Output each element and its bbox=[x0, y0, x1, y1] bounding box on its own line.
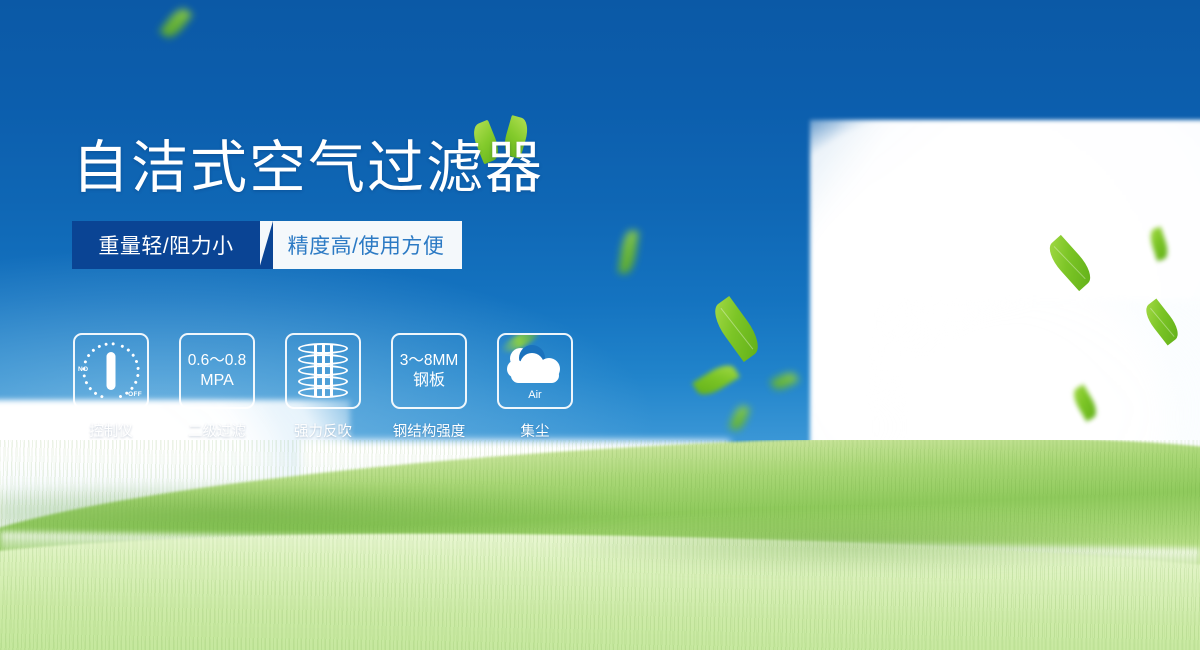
feature-list: NO OFF 控制仪 0.6～0.8 MPA 二级过滤 bbox=[72, 333, 574, 441]
pressure-text-icon: 0.6～0.8 MPA bbox=[188, 351, 247, 391]
air-label: Air bbox=[505, 389, 565, 401]
gauge-label-off: OFF bbox=[128, 391, 142, 398]
steel-plate-text-icon: 3～8MM 钢板 bbox=[400, 351, 459, 391]
product-hero-banner: 自洁式空气过滤器 重量轻/阻力小 精度高/使用方便 bbox=[0, 0, 1200, 650]
tagline-right-text: 精度高/使用方便 bbox=[278, 230, 445, 260]
grass-field bbox=[0, 440, 1200, 650]
gauge-label-no: NO bbox=[78, 366, 88, 373]
tagline-left-block: 重量轻/阻力小 bbox=[72, 221, 260, 269]
feature-caption: 二级过滤 bbox=[188, 420, 246, 441]
steel-thickness: 3～8MM bbox=[400, 351, 459, 371]
pressure-unit: MPA bbox=[188, 371, 247, 391]
feature-caption: 集尘 bbox=[521, 420, 550, 441]
gauge-needle bbox=[107, 352, 116, 390]
grass-texture bbox=[0, 440, 1200, 650]
cloud-air-icon: Air bbox=[505, 342, 565, 400]
feature-icon-box: NO OFF bbox=[73, 333, 149, 409]
feature-item-dust[interactable]: Air 集尘 bbox=[496, 333, 574, 441]
hero-content: 自洁式空气过滤器 重量轻/阻力小 精度高/使用方便 bbox=[72, 140, 712, 269]
cloud-base bbox=[511, 368, 559, 383]
pressure-range: 0.6～0.8 bbox=[188, 351, 247, 371]
feature-icon-box: 0.6～0.8 MPA bbox=[179, 333, 255, 409]
feature-icon-box bbox=[285, 333, 361, 409]
feature-icon-box: Air bbox=[497, 333, 573, 409]
tagline-badge: 重量轻/阻力小 精度高/使用方便 bbox=[72, 221, 462, 269]
feature-item-controller[interactable]: NO OFF 控制仪 bbox=[72, 333, 150, 441]
feature-item-steel[interactable]: 3～8MM 钢板 钢结构强度 bbox=[390, 333, 468, 441]
feature-icon-box: 3～8MM 钢板 bbox=[391, 333, 467, 409]
page-title: 自洁式空气过滤器 bbox=[72, 140, 712, 197]
feature-caption: 钢结构强度 bbox=[393, 420, 466, 441]
feature-item-filtration[interactable]: 0.6～0.8 MPA 二级过滤 bbox=[178, 333, 256, 441]
steel-material: 钢板 bbox=[400, 371, 459, 391]
feature-caption: 控制仪 bbox=[89, 420, 133, 441]
gauge-dial-icon: NO OFF bbox=[80, 340, 142, 402]
feature-caption: 强力反吹 bbox=[294, 420, 352, 441]
feature-item-blowback[interactable]: 强力反吹 bbox=[284, 333, 362, 441]
coil-stack-icon bbox=[298, 343, 348, 399]
tagline-left-text: 重量轻/阻力小 bbox=[98, 230, 233, 260]
tagline-right-block: 精度高/使用方便 bbox=[260, 221, 462, 269]
